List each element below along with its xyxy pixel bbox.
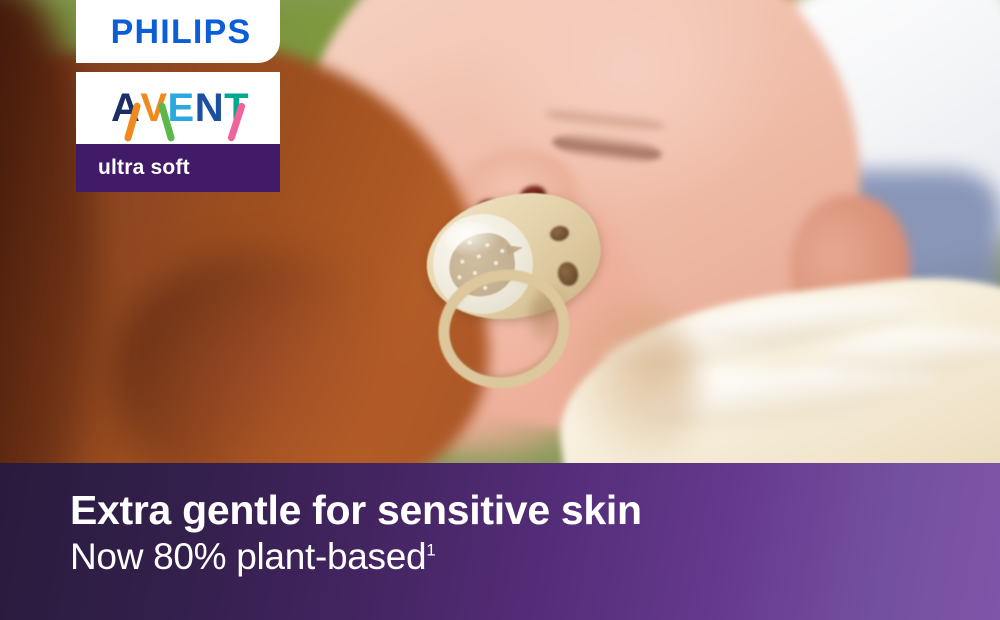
philips-wordmark: PHILIPS [105,15,252,49]
philips-logo-panel: PHILIPS [76,0,280,63]
pacifier-button-gloss [445,222,501,256]
avent-letter-t: T [224,88,249,128]
brand-logo-lockup: PHILIPS A V E N T ultra soft [76,0,280,192]
pacifier-product [408,192,638,412]
banner-subhead-text: Now 80% plant-based [70,536,426,577]
philips-avent-ad-banner: PHILIPS A V E N T ultra soft [0,0,1000,620]
avent-letter-e: E [168,88,195,128]
hero-photo: PHILIPS A V E N T ultra soft [0,0,1000,463]
message-banner: Extra gentle for sensitive skin Now 80% … [0,463,1000,620]
avent-logo-panel: A V E N T [76,72,280,144]
banner-text-block: Extra gentle for sensitive skin Now 80% … [70,489,642,578]
avent-letter-n: N [195,88,224,128]
avent-letter-v: V [140,88,167,128]
avent-wordmark: A V E N T [107,88,249,128]
footnote-marker: 1 [426,541,435,560]
banner-subhead: Now 80% plant-based1 [70,537,642,578]
product-line-label: ultra soft [98,156,190,180]
product-line-panel: ultra soft [76,144,280,192]
avent-letter-a: A [111,88,140,128]
banner-headline: Extra gentle for sensitive skin [70,489,642,532]
logo-panel-gap [76,63,280,72]
